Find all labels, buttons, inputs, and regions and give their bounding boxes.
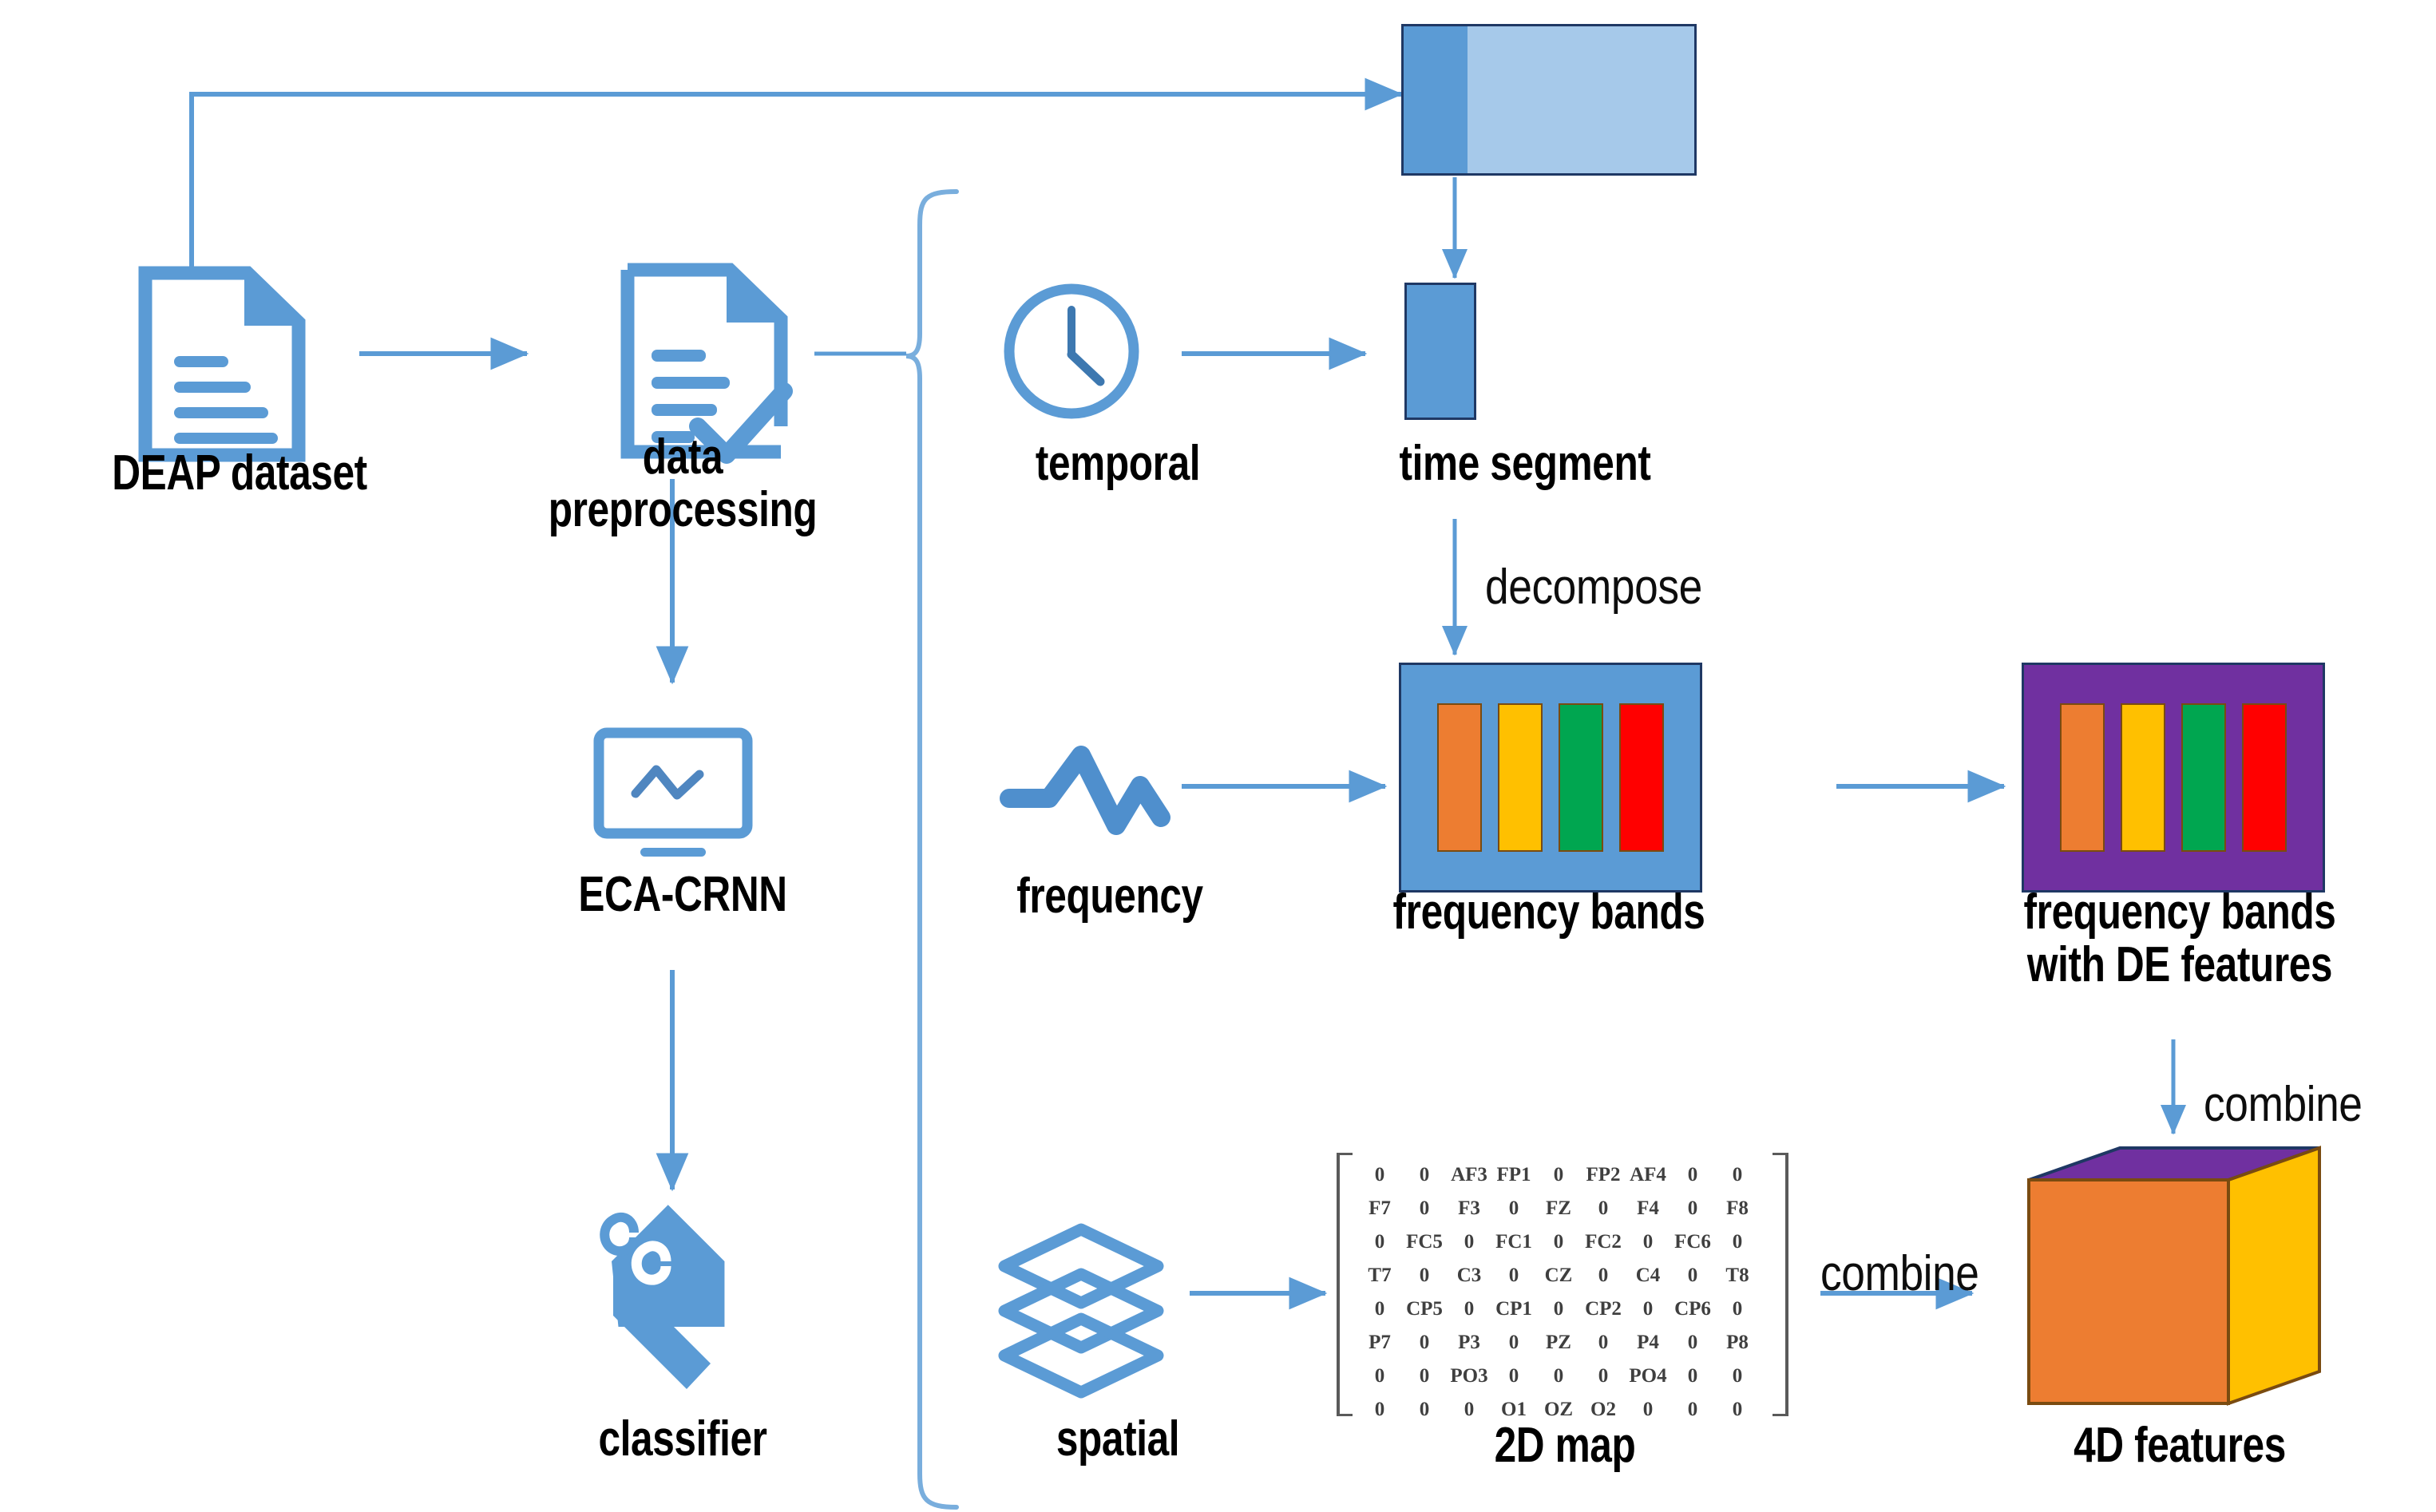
electrode-matrix-cell: 0 [1670, 1325, 1715, 1359]
electrode-matrix-cell: C4 [1626, 1258, 1670, 1292]
label-frequency-bands-de: frequency bands with DE features [1963, 886, 2397, 991]
electrode-matrix-cell: FC6 [1670, 1225, 1715, 1258]
electrode-matrix-cell: C3 [1447, 1258, 1491, 1292]
document-check-icon [628, 270, 784, 455]
electrode-matrix-cell: 0 [1357, 1292, 1402, 1325]
electrode-matrix-cell: F8 [1715, 1191, 1760, 1225]
electrode-matrix-cell: CP6 [1670, 1292, 1715, 1325]
electrode-matrix-cell: 0 [1715, 1158, 1760, 1191]
electrode-matrix-cell: P4 [1626, 1325, 1670, 1359]
electrode-matrix-table: 00AF3FP10FP2AF400F70F30FZ0F40F80FC50FC10… [1357, 1158, 1760, 1426]
electrode-matrix-row: 00AF3FP10FP2AF400 [1357, 1158, 1760, 1191]
electrode-matrix-cell: 0 [1715, 1359, 1760, 1392]
electrode-matrix-cell: 0 [1670, 1158, 1715, 1191]
electrode-matrix-cell: 0 [1581, 1359, 1626, 1392]
electrode-matrix-cell: P3 [1447, 1325, 1491, 1359]
label-4d-features: 4D features [1982, 1419, 2378, 1472]
electrode-matrix-cell: 0 [1447, 1225, 1491, 1258]
label-2d-map: 2D map [1399, 1419, 1731, 1472]
electrode-matrix-row: F70F30FZ0F40F8 [1357, 1191, 1760, 1225]
label-combine-vertical: combine [2204, 1076, 2363, 1133]
electrode-matrix-cell: 0 [1670, 1191, 1715, 1225]
monitor-wave-icon [599, 733, 747, 857]
matrix-left-bracket [1337, 1153, 1353, 1416]
band-red [1619, 703, 1664, 852]
layers-icon [1004, 1229, 1158, 1392]
electrode-matrix-cell: 0 [1536, 1292, 1581, 1325]
label-frequency-bands: frequency bands [1325, 886, 1773, 939]
tag-icon [582, 1205, 757, 1389]
time-segment-block [1404, 283, 1476, 420]
electrode-matrix-cell: 0 [1491, 1258, 1536, 1292]
de-band-green [2181, 703, 2226, 852]
electrode-matrix-cell: 0 [1491, 1191, 1536, 1225]
clock-icon [1009, 289, 1134, 414]
electrode-matrix-cell: 0 [1402, 1158, 1447, 1191]
frequency-bands-de-block [2022, 663, 2325, 893]
band-green [1559, 703, 1603, 852]
electrode-matrix-cell: CZ [1536, 1258, 1581, 1292]
de-band-yellow [2121, 703, 2165, 852]
electrode-matrix-cell: F4 [1626, 1191, 1670, 1225]
label-temporal: temporal [952, 437, 1284, 490]
electrode-matrix-cell: 0 [1715, 1225, 1760, 1258]
matrix-right-bracket [1773, 1153, 1788, 1416]
electrode-matrix-cell: CP1 [1491, 1292, 1536, 1325]
electrode-matrix-cell: FC5 [1402, 1225, 1447, 1258]
signal-bar-selected-segment [1404, 26, 1468, 173]
electrode-matrix-cell: 0 [1447, 1292, 1491, 1325]
electrode-matrix-cell: 0 [1626, 1225, 1670, 1258]
electrode-matrix-cell: FZ [1536, 1191, 1581, 1225]
label-frequency: frequency [944, 870, 1276, 923]
domain-bracket [906, 192, 957, 1507]
electrode-matrix-cell: F3 [1447, 1191, 1491, 1225]
electrode-matrix-cell: 0 [1581, 1325, 1626, 1359]
electrode-matrix-cell: P8 [1715, 1325, 1760, 1359]
electrode-matrix-cell: FC2 [1581, 1225, 1626, 1258]
electrode-matrix-cell: PO4 [1626, 1359, 1670, 1392]
electrode-matrix-cell: 0 [1670, 1359, 1715, 1392]
electrode-matrix-cell: AF4 [1626, 1158, 1670, 1191]
electrode-matrix: 00AF3FP10FP2AF400F70F30FZ0F40F80FC50FC10… [1357, 1158, 1760, 1426]
label-data-preprocessing: data preprocessing [494, 431, 871, 536]
waveform-icon [1009, 755, 1161, 825]
electrode-matrix-cell: T8 [1715, 1258, 1760, 1292]
electrode-matrix-cell: 0 [1402, 1359, 1447, 1392]
signal-bar [1401, 24, 1697, 176]
electrode-matrix-cell: CP5 [1402, 1292, 1447, 1325]
document-icon [145, 273, 299, 455]
frequency-bands-block [1399, 663, 1702, 893]
electrode-matrix-cell: FP1 [1491, 1158, 1536, 1191]
signal-bar-remainder [1468, 26, 1694, 173]
electrode-matrix-cell: 0 [1536, 1158, 1581, 1191]
electrode-matrix-cell: 0 [1402, 1191, 1447, 1225]
electrode-matrix-cell: FC1 [1491, 1225, 1536, 1258]
electrode-matrix-row: 0CP50CP10CP20CP60 [1357, 1292, 1760, 1325]
band-yellow [1498, 703, 1543, 852]
de-band-orange [2060, 703, 2105, 852]
electrode-matrix-cell: PZ [1536, 1325, 1581, 1359]
label-classifier: classifier [494, 1413, 871, 1466]
electrode-matrix-row: 0FC50FC10FC20FC60 [1357, 1225, 1760, 1258]
electrode-matrix-cell: 0 [1357, 1392, 1402, 1426]
electrode-matrix-cell: 0 [1402, 1325, 1447, 1359]
electrode-matrix-cell: F7 [1357, 1191, 1402, 1225]
de-band-red [2242, 703, 2287, 852]
electrode-matrix-cell: 0 [1402, 1258, 1447, 1292]
label-decompose: decompose [1485, 559, 1702, 615]
label-eca-crnn: ECA-CRNN [494, 869, 871, 921]
electrode-matrix-cell: 0 [1357, 1158, 1402, 1191]
electrode-matrix-cell: T7 [1357, 1258, 1402, 1292]
electrode-matrix-cell: 0 [1491, 1359, 1536, 1392]
electrode-matrix-cell: 0 [1491, 1325, 1536, 1359]
electrode-matrix-cell: 0 [1581, 1191, 1626, 1225]
electrode-matrix-body: 00AF3FP10FP2AF400F70F30FZ0F40F80FC50FC10… [1357, 1158, 1760, 1426]
electrode-matrix-cell: 0 [1536, 1225, 1581, 1258]
electrode-matrix-cell: 0 [1715, 1292, 1760, 1325]
electrode-matrix-cell: 0 [1626, 1292, 1670, 1325]
electrode-matrix-cell: 0 [1536, 1359, 1581, 1392]
electrode-matrix-cell: 0 [1357, 1225, 1402, 1258]
electrode-matrix-cell: FP2 [1581, 1158, 1626, 1191]
electrode-matrix-cell: 0 [1581, 1258, 1626, 1292]
label-deap-dataset: DEAP dataset [48, 447, 431, 500]
electrode-matrix-cell: PO3 [1447, 1359, 1491, 1392]
label-combine-horizontal: combine [1820, 1245, 1979, 1302]
electrode-matrix-cell: P7 [1357, 1325, 1402, 1359]
electrode-matrix-cell: CP2 [1581, 1292, 1626, 1325]
electrode-matrix-cell: 0 [1357, 1359, 1402, 1392]
electrode-matrix-row: T70C30CZ0C40T8 [1357, 1258, 1760, 1292]
band-orange [1437, 703, 1482, 852]
label-spatial: spatial [952, 1413, 1284, 1466]
electrode-matrix-row: 00PO3000PO400 [1357, 1359, 1760, 1392]
cube-4d-features [2029, 1148, 2319, 1403]
electrode-matrix-row: P70P30PZ0P40P8 [1357, 1325, 1760, 1359]
diagram-canvas: 00AF3FP10FP2AF400F70F30FZ0F40F80FC50FC10… [0, 0, 2436, 1512]
edge-feedback-to-signal [192, 94, 1401, 271]
electrode-matrix-cell: 0 [1670, 1258, 1715, 1292]
electrode-matrix-cell: AF3 [1447, 1158, 1491, 1191]
label-time-segment: time segment [1308, 437, 1742, 490]
